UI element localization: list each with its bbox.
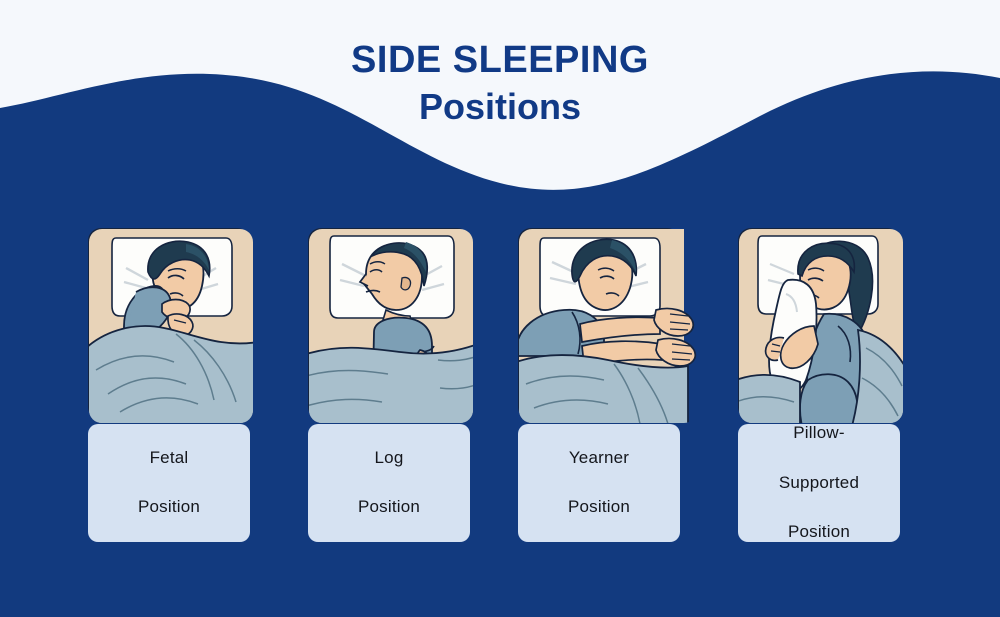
label-line-1: Log: [358, 446, 420, 471]
fetal-position-illustration: [88, 228, 250, 420]
label-line-1: Fetal: [138, 446, 200, 471]
log-position-illustration: [308, 228, 470, 420]
card-label-fetal: Fetal Position: [88, 424, 250, 542]
label-line-2: Position: [568, 495, 630, 520]
label-line-2: Position: [358, 495, 420, 520]
pillow-supported-position-illustration: [738, 228, 900, 420]
position-card-log[interactable]: Log Position: [308, 228, 470, 542]
page-title-line-2: Positions: [0, 83, 1000, 132]
card-label-pillow-supported: Pillow- Supported Position: [738, 424, 900, 542]
card-label-log: Log Position: [308, 424, 470, 542]
label-line-1: Pillow-: [779, 421, 859, 446]
card-label-text-yearner: Yearner Position: [568, 446, 630, 520]
label-line-3: Position: [779, 520, 859, 545]
label-line-2: Position: [138, 495, 200, 520]
position-card-fetal[interactable]: Fetal Position: [88, 228, 250, 542]
card-label-text-log: Log Position: [358, 446, 420, 520]
label-line-2: Supported: [779, 471, 859, 496]
position-card-yearner[interactable]: Yearner Position: [518, 228, 680, 542]
card-label-text-pillow-supported: Pillow- Supported Position: [779, 421, 859, 544]
header-band: SIDE SLEEPING Positions: [0, 0, 1000, 200]
page-title: SIDE SLEEPING Positions: [0, 38, 1000, 131]
card-label-text-fetal: Fetal Position: [138, 446, 200, 520]
position-card-pillow-supported[interactable]: Pillow- Supported Position: [738, 228, 900, 542]
label-line-1: Yearner: [568, 446, 630, 471]
card-label-yearner: Yearner Position: [518, 424, 680, 542]
yearner-position-illustration: [518, 228, 680, 420]
page-title-line-1: SIDE SLEEPING: [0, 38, 1000, 83]
